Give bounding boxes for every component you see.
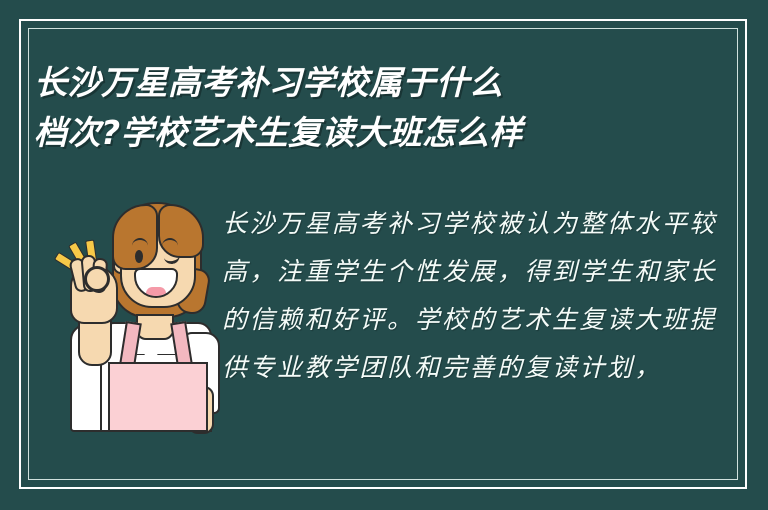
winking-woman-illustration	[60, 196, 220, 428]
tongue-shape	[146, 287, 166, 296]
eye-open	[135, 250, 143, 263]
headline-line-2: 档次?学校艺术生复读大班怎么样	[34, 108, 734, 158]
neck-shape	[136, 314, 174, 340]
eyebrow-left	[132, 238, 148, 247]
apron-shape	[108, 362, 208, 432]
eyebrow-right	[162, 238, 178, 247]
headline: 长沙万星高考补习学校属于什么 档次?学校艺术生复读大班怎么样	[34, 58, 734, 158]
poster-canvas: 长沙万星高考补习学校属于什么 档次?学校艺术生复读大班怎么样	[0, 0, 768, 510]
hair-fringe-right	[158, 204, 204, 258]
ok-gesture-ring	[84, 266, 110, 292]
body-paragraph: 长沙万星高考补习学校被认为整体水平较高，注重学生个性发展，得到学生和家长的信赖和…	[222, 200, 727, 392]
headline-line-1: 长沙万星高考补习学校属于什么	[34, 58, 734, 108]
